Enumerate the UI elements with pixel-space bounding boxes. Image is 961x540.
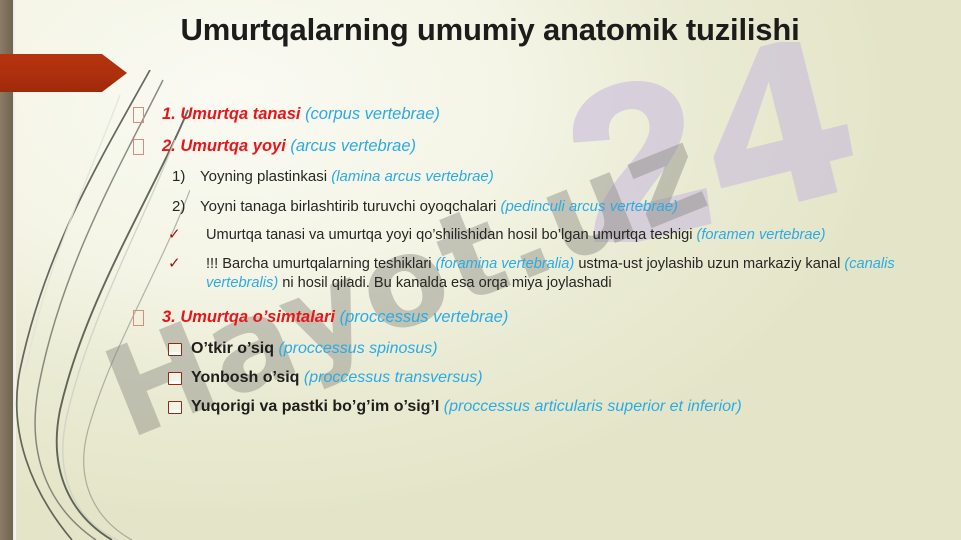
- item-text-c: ni hosil qiladi. Bu kanalda esa orqa miy…: [278, 275, 611, 291]
- list-item: 2. Umurtqa yoyi (arcus vertebrae): [0, 136, 961, 157]
- item-heading: Yoyning plastinkasi: [200, 168, 327, 185]
- list-item: 1. Umurtqa tanasi (corpus vertebrae): [0, 104, 961, 125]
- bullet-square-icon: [168, 401, 182, 414]
- bullet-tofu-icon: [133, 139, 144, 155]
- list-item-text: 2. Umurtqa yoyi (arcus vertebrae): [162, 136, 416, 157]
- item-latin: (foramen vertebrae): [697, 227, 826, 243]
- list-item: 3. Umurtqa o’simtalari (proccessus verte…: [0, 307, 961, 328]
- item-heading: Yuqorigi va pastki bo’g’im o’sig’I: [191, 398, 439, 415]
- list-item-text: Yoyning plastinkasi (lamina arcus verteb…: [200, 168, 494, 185]
- square-list-item: O’tkir o’siq (proccessus spinosus): [0, 339, 961, 359]
- bullet-tofu-icon: [133, 107, 144, 123]
- item-text: !!! Barcha umurtqalarning teshiklari: [206, 256, 436, 272]
- item-heading: Yoyni tanaga birlashtirib turuvchi oyoqc…: [200, 198, 496, 215]
- check-icon: ✓: [168, 256, 182, 273]
- item-latin: (pedinculi arcus vertebrae): [500, 198, 678, 215]
- numbered-list-item: 1)Yoyning plastinkasi (lamina arcus vert…: [0, 167, 961, 187]
- list-item-text: !!! Barcha umurtqalarning teshiklari (fo…: [182, 255, 961, 294]
- slide-canvas: Hayot.uz Umurtqalarning umumiy anatomik …: [0, 0, 961, 540]
- check-list-item: ✓ !!! Barcha umurtqalarning teshiklari (…: [0, 255, 961, 294]
- list-item-text: 3. Umurtqa o’simtalari (proccessus verte…: [162, 307, 508, 328]
- red-arrow-banner: [0, 54, 127, 92]
- list-item-text: 1. Umurtqa tanasi (corpus vertebrae): [162, 104, 440, 125]
- item-latin: (proccessus articularis superior et infe…: [444, 398, 742, 415]
- list-marker: 2): [172, 197, 200, 217]
- item-text-b: ustma-ust joylashib uzun markaziy kanal: [574, 256, 844, 272]
- list-item-text: Yonbosh o’siq (proccessus transversus): [191, 368, 483, 388]
- list-item-text: Yoyni tanaga birlashtirib turuvchi oyoqc…: [200, 198, 678, 215]
- item-text: Umurtqa tanasi va umurtqa yoyi qo’shilis…: [206, 227, 697, 243]
- item-heading: 1. Umurtqa tanasi: [162, 105, 300, 123]
- item-latin: (lamina arcus vertebrae): [331, 168, 494, 185]
- list-marker: 1): [172, 167, 200, 187]
- item-latin: (proccessus vertebrae): [340, 308, 509, 326]
- item-latin: (foramina vertebralia): [436, 256, 575, 272]
- item-latin: (proccessus spinosus): [278, 340, 437, 357]
- numbered-list-item: 2)Yoyni tanaga birlashtirib turuvchi oyo…: [0, 197, 961, 217]
- check-list-item: ✓ Umurtqa tanasi va umurtqa yoyi qo’shil…: [0, 226, 961, 245]
- bullet-tofu-icon: [133, 310, 144, 326]
- bullet-square-icon: [168, 372, 182, 385]
- list-item-text: Umurtqa tanasi va umurtqa yoyi qo’shilis…: [182, 226, 961, 245]
- square-list-item: Yonbosh o’siq (proccessus transversus): [0, 368, 961, 388]
- item-heading: 2. Umurtqa yoyi: [162, 137, 286, 155]
- item-heading: Yonbosh o’siq: [191, 369, 299, 386]
- check-icon: ✓: [168, 227, 182, 244]
- item-latin: (corpus vertebrae): [305, 105, 440, 123]
- item-heading: 3. Umurtqa o’simtalari: [162, 308, 335, 326]
- slide-title: Umurtqalarning umumiy anatomik tuzilishi: [120, 12, 860, 48]
- list-item-text: O’tkir o’siq (proccessus spinosus): [191, 339, 438, 359]
- bullet-square-icon: [168, 343, 182, 356]
- list-item-text: Yuqorigi va pastki bo’g’im o’sig’I (proc…: [191, 397, 742, 417]
- item-latin: (proccessus transversus): [304, 369, 483, 386]
- slide-body: 1. Umurtqa tanasi (corpus vertebrae) 2. …: [0, 104, 961, 426]
- item-heading: O’tkir o’siq: [191, 340, 274, 357]
- square-list-item: Yuqorigi va pastki bo’g’im o’sig’I (proc…: [0, 397, 961, 417]
- item-latin: (arcus vertebrae): [290, 137, 416, 155]
